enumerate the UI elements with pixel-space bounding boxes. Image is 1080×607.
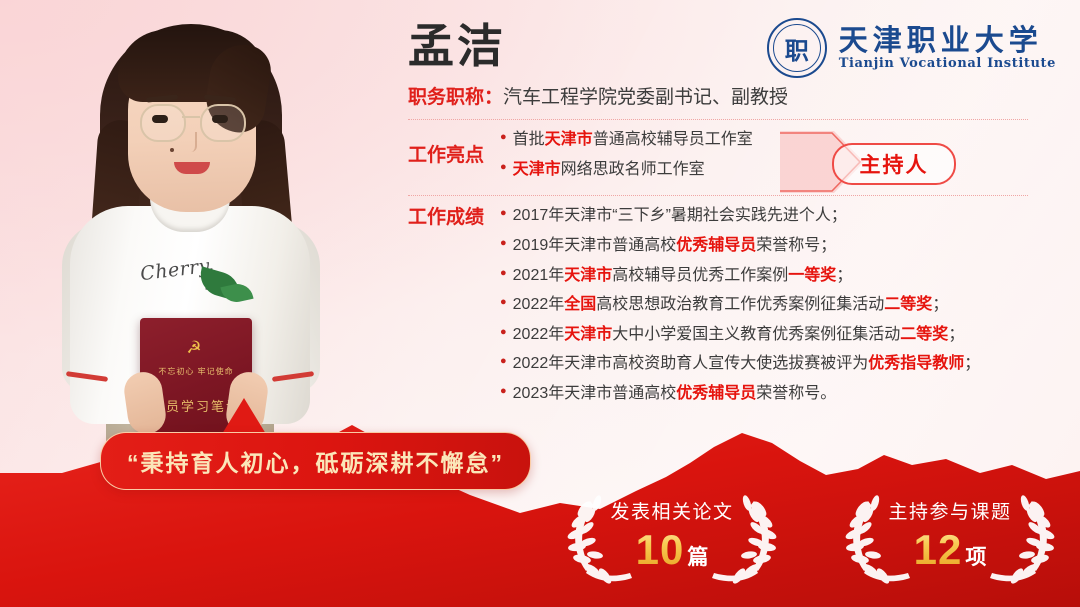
highlighted-run: 天津市 <box>564 326 612 343</box>
text-run: 2022年 <box>513 326 565 343</box>
text-run: 2019年天津市普通高校 <box>513 237 677 254</box>
stat-label: 主持参与课题 <box>888 497 1011 524</box>
achievements-list: ●2017年天津市“三下乡”暑期社会实践先进个人；●2019年天津市普通高校优秀… <box>500 205 1028 412</box>
position-title-row: 职务职称：汽车工程学院党委副书记、副教授 <box>408 82 1028 109</box>
highlights-label: 工作亮点 <box>408 129 500 168</box>
text-run: 2022年天津市高校资助育人宣传大使选拔赛被评为 <box>513 355 869 372</box>
highlighted-run: 全国 <box>564 296 596 313</box>
list-item-text: 2022年全国高校思想政治教育工作优秀案例征集活动二等奖； <box>513 294 949 316</box>
text-run: 2023年天津市普通高校 <box>513 385 677 402</box>
position-title-value: 汽车工程学院党委副书记、副教授 <box>503 87 788 108</box>
stat-label: 发表相关论文 <box>610 497 733 524</box>
glasses-lens-left-icon <box>140 104 186 142</box>
bullet-icon: ● <box>500 235 507 252</box>
portrait-mole <box>170 148 174 152</box>
list-item-text: 2017年天津市“三下乡”暑期社会实践先进个人； <box>513 205 847 227</box>
text-run: 普通高校辅导员工作室 <box>593 131 753 148</box>
bullet-icon: ● <box>500 129 507 146</box>
list-item-text: 首批天津市普通高校辅导员工作室 <box>513 129 753 151</box>
list-item-text: 2022年天津市高校资助育人宣传大使选拔赛被评为优秀指导教师； <box>513 353 981 375</box>
page-title: 孟洁 <box>408 22 1028 70</box>
text-run: ； <box>836 267 852 284</box>
highlighted-run: 二等奖 <box>900 326 948 343</box>
bullet-icon: ● <box>500 205 507 222</box>
list-item-text: 2023年天津市普通高校优秀辅导员荣誉称号。 <box>513 383 837 405</box>
bullet-icon: ● <box>500 265 507 282</box>
bullet-icon: ● <box>500 383 507 400</box>
text-run: 2021年 <box>513 267 565 284</box>
list-item: ●2022年天津市大中小学爱国主义教育优秀案例征集活动二等奖； <box>500 324 1028 346</box>
highlighted-run: 二等奖 <box>884 296 932 313</box>
statistics-row: 发表相关论文10篇 <box>556 483 1066 593</box>
highlighted-run: 优秀辅导员 <box>676 385 756 402</box>
highlighted-run: 天津市 <box>564 267 612 284</box>
quote-text: “秉持育人初心，砥砺深耕不懈怠” <box>100 432 531 490</box>
text-run: 首批 <box>513 131 545 148</box>
achievements-label: 工作成绩 <box>408 205 500 230</box>
divider-top <box>408 119 1028 120</box>
text-run: ； <box>964 355 980 372</box>
divider-bottom <box>408 195 1028 196</box>
text-run: 高校思想政治教育工作优秀案例征集活动 <box>596 296 884 313</box>
stat-item: 发表相关论文10篇 <box>556 483 788 587</box>
position-title-label: 职务职称： <box>408 87 503 108</box>
list-item-text: 2021年天津市高校辅导员优秀工作案例一等奖； <box>513 265 853 287</box>
text-run: 网络思政名师工作室 <box>561 161 705 178</box>
list-item: ●2017年天津市“三下乡”暑期社会实践先进个人； <box>500 205 1028 227</box>
portrait-nose <box>187 132 197 152</box>
party-emblem-icon: ☭ <box>182 338 206 358</box>
portrait-eye-left <box>152 115 168 123</box>
quote-banner: “秉持育人初心，砥砺深耕不懈怠” <box>100 432 531 490</box>
quote-pointer-icon <box>222 398 266 434</box>
stat-number: 10 <box>636 526 685 574</box>
stat-unit: 项 <box>965 541 986 571</box>
glasses-bridge-icon <box>182 116 200 118</box>
status-badge: 主持人 <box>832 143 956 185</box>
bullet-icon: ● <box>500 294 507 311</box>
list-item-text: 2022年天津市大中小学爱国主义教育优秀案例征集活动二等奖； <box>513 324 965 346</box>
glasses-lens-right-icon <box>200 104 246 142</box>
portrait-eye-right <box>212 115 228 123</box>
text-run: 2022年 <box>513 296 565 313</box>
stat-value: 10篇 <box>636 526 709 574</box>
highlighted-run: 天津市 <box>513 161 561 178</box>
book-subtitle: 不忘初心 牢记使命 <box>150 366 242 377</box>
highlighted-run: 天津市 <box>545 131 593 148</box>
bullet-icon: ● <box>500 159 507 176</box>
seal-character: 职 <box>785 31 809 66</box>
stat-unit: 篇 <box>687 541 708 571</box>
list-item: ●2023年天津市普通高校优秀辅导员荣誉称号。 <box>500 383 1028 405</box>
profile-content: 孟洁 职务职称：汽车工程学院党委副书记、副教授 工作亮点 ●首批天津市普通高校辅… <box>408 22 1028 413</box>
bullet-icon: ● <box>500 353 507 370</box>
highlighted-run: 优秀指导教师 <box>868 355 964 372</box>
list-item: ●2021年天津市高校辅导员优秀工作案例一等奖； <box>500 265 1028 287</box>
highlighted-run: 优秀辅导员 <box>676 237 756 254</box>
highlights-block: 工作亮点 ●首批天津市普通高校辅导员工作室●天津市网络思政名师工作室 主持人 <box>408 129 1028 188</box>
list-item: ●2022年全国高校思想政治教育工作优秀案例征集活动二等奖； <box>500 294 1028 316</box>
list-item: ●2019年天津市普通高校优秀辅导员荣誉称号； <box>500 235 1028 257</box>
text-run: ； <box>948 326 964 343</box>
stat-item: 主持参与课题12项 <box>834 483 1066 587</box>
list-item-text: 天津市网络思政名师工作室 <box>513 159 705 181</box>
text-run: 高校辅导员优秀工作案例 <box>612 267 788 284</box>
bullet-icon: ● <box>500 324 507 341</box>
text-run: 荣誉称号； <box>756 237 836 254</box>
stat-number: 12 <box>914 526 963 574</box>
text-run: 荣誉称号。 <box>756 385 836 402</box>
poster-canvas: Cherry ☭ 不忘初心 牢记使命 党员学习笔记 职 天津职业大学 Tianj… <box>0 0 1080 607</box>
text-run: 2017年天津市“三下乡”暑期社会实践先进个人； <box>513 207 847 224</box>
list-item: ●2022年天津市高校资助育人宣传大使选拔赛被评为优秀指导教师； <box>500 353 1028 375</box>
highlighted-run: 一等奖 <box>788 267 836 284</box>
text-run: 大中小学爱国主义教育优秀案例征集活动 <box>612 326 900 343</box>
stat-value: 12项 <box>914 526 987 574</box>
list-item-text: 2019年天津市普通高校优秀辅导员荣誉称号； <box>513 235 837 257</box>
text-run: ； <box>932 296 948 313</box>
achievements-block: 工作成绩 ●2017年天津市“三下乡”暑期社会实践先进个人；●2019年天津市普… <box>408 205 1028 412</box>
